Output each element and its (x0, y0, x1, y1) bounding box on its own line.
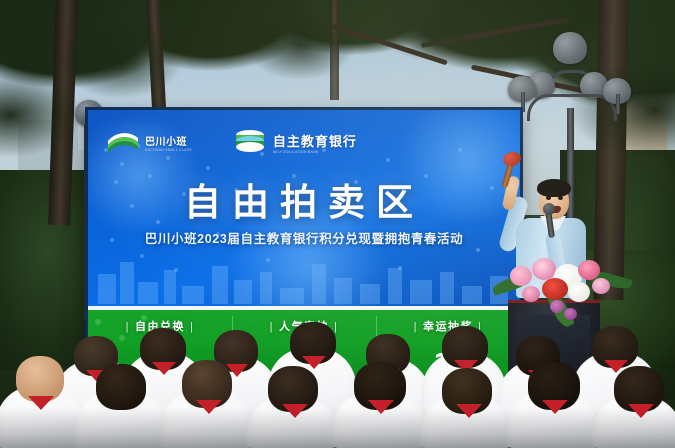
city-skyline-graphic (88, 252, 520, 304)
coin-stack-icon (232, 128, 268, 156)
flower-bloom (568, 282, 590, 302)
speaker-hair (537, 179, 571, 197)
flower-bloom (578, 260, 600, 280)
flower-bloom (522, 286, 540, 302)
lamp-stem (616, 94, 620, 114)
lamp-stem (521, 92, 525, 112)
tree-trunk (330, 0, 339, 100)
microphone-head (543, 203, 555, 215)
flower-bloom (542, 278, 568, 300)
logo-bachuan-text: 巴川小班 BACHUAN SMALL CLASS (145, 133, 192, 152)
flower-bloom (510, 266, 532, 286)
banner-subtitle: 巴川小班2023届自主教育银行积分兑现暨拥抱青春活动 (88, 228, 520, 247)
speaker-eye (558, 196, 563, 200)
banner-logo-row: 巴川小班 BACHUAN SMALL CLASS 自主教育银行 SELF-EDU… (106, 128, 357, 156)
flower-bloom (550, 300, 564, 313)
book-swoosh-icon (106, 129, 140, 155)
banner-main-title: 自由拍卖区 (88, 172, 520, 226)
flower-bloom (532, 258, 556, 280)
speaker-eye (546, 196, 551, 200)
flower-bloom (592, 278, 610, 294)
flower-arrangement (492, 252, 632, 324)
lamp-globe (553, 32, 587, 64)
flower-bloom (564, 308, 577, 320)
logo-bachuan: 巴川小班 BACHUAN SMALL CLASS (106, 129, 192, 155)
logo-education-bank: 自主教育银行 SELF-EDUCATION BANK (232, 128, 357, 156)
lamp-arm (527, 94, 617, 121)
photo-scene: 巴川小班 BACHUAN SMALL CLASS 自主教育银行 SELF-EDU… (0, 0, 675, 448)
logo-education-bank-text: 自主教育银行 SELF-EDUCATION BANK (273, 131, 357, 154)
